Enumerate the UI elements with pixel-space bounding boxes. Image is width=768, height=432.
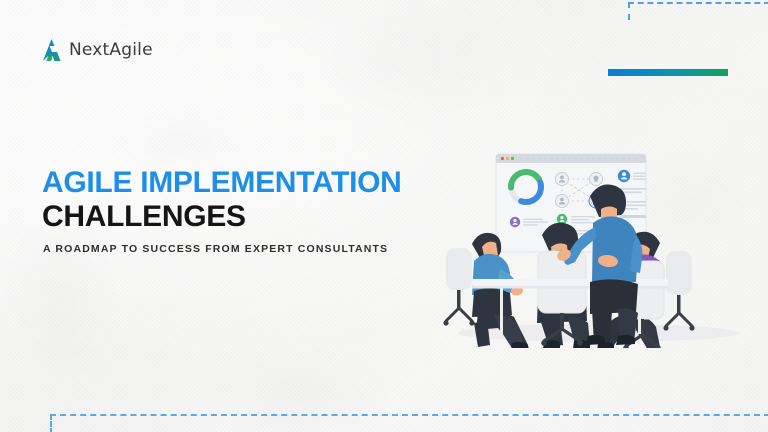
illustration-svg	[438, 143, 758, 348]
brand-logo[interactable]: NextAgile	[40, 38, 153, 62]
chair-right	[663, 251, 694, 331]
headline-line-2: CHALLENGES	[42, 200, 402, 234]
slide-canvas: NextAgile AGILE IMPLEMENTATION CHALLENGE…	[0, 0, 768, 432]
headline-line-1: AGILE IMPLEMENTATION	[42, 166, 402, 200]
chair-left	[443, 248, 474, 326]
subheadline: A ROADMAP TO SUCCESS FROM EXPERT CONSULT…	[43, 243, 388, 255]
dashed-bracket-top-right	[628, 2, 768, 20]
nextagile-a-mark-icon	[40, 38, 62, 62]
brand-wordmark: NextAgile	[69, 40, 153, 60]
page-title: AGILE IMPLEMENTATION CHALLENGES	[42, 166, 402, 233]
team-meeting-illustration	[438, 143, 758, 348]
dashed-bracket-bottom-left	[50, 414, 768, 432]
accent-bar	[608, 69, 728, 76]
